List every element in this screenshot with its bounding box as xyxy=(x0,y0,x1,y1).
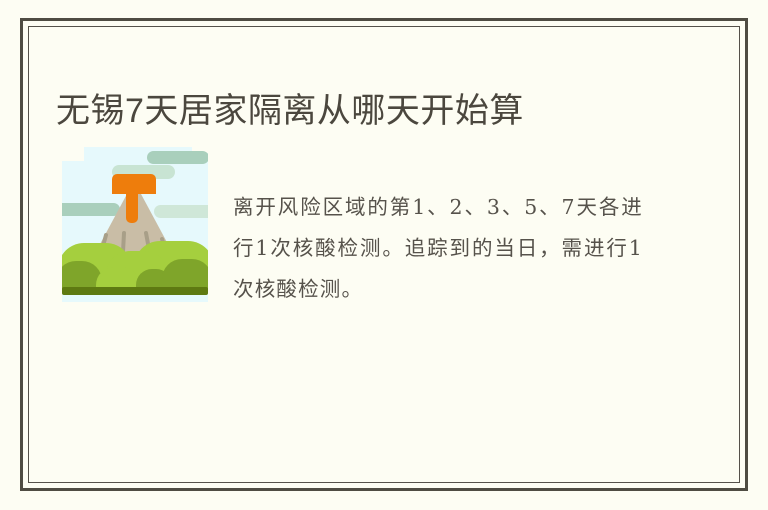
article-body-text: 离开风险区域的第1、2、3、5、7天各进行1次核酸检测。追踪到的当日，需进行1次… xyxy=(233,187,643,310)
article-page: 无锡7天居家隔离从哪天开始算 xyxy=(0,0,768,510)
page-title: 无锡7天居家隔离从哪天开始算 xyxy=(56,89,716,133)
cloud-icon xyxy=(147,151,208,164)
bush-shape xyxy=(96,267,140,289)
bush-shape xyxy=(162,259,208,289)
volcano-illustration xyxy=(62,147,208,302)
sky-corner-notch-left xyxy=(62,147,84,161)
ground-strip xyxy=(62,287,208,295)
page-content: 无锡7天居家隔离从哪天开始算 xyxy=(0,0,768,510)
